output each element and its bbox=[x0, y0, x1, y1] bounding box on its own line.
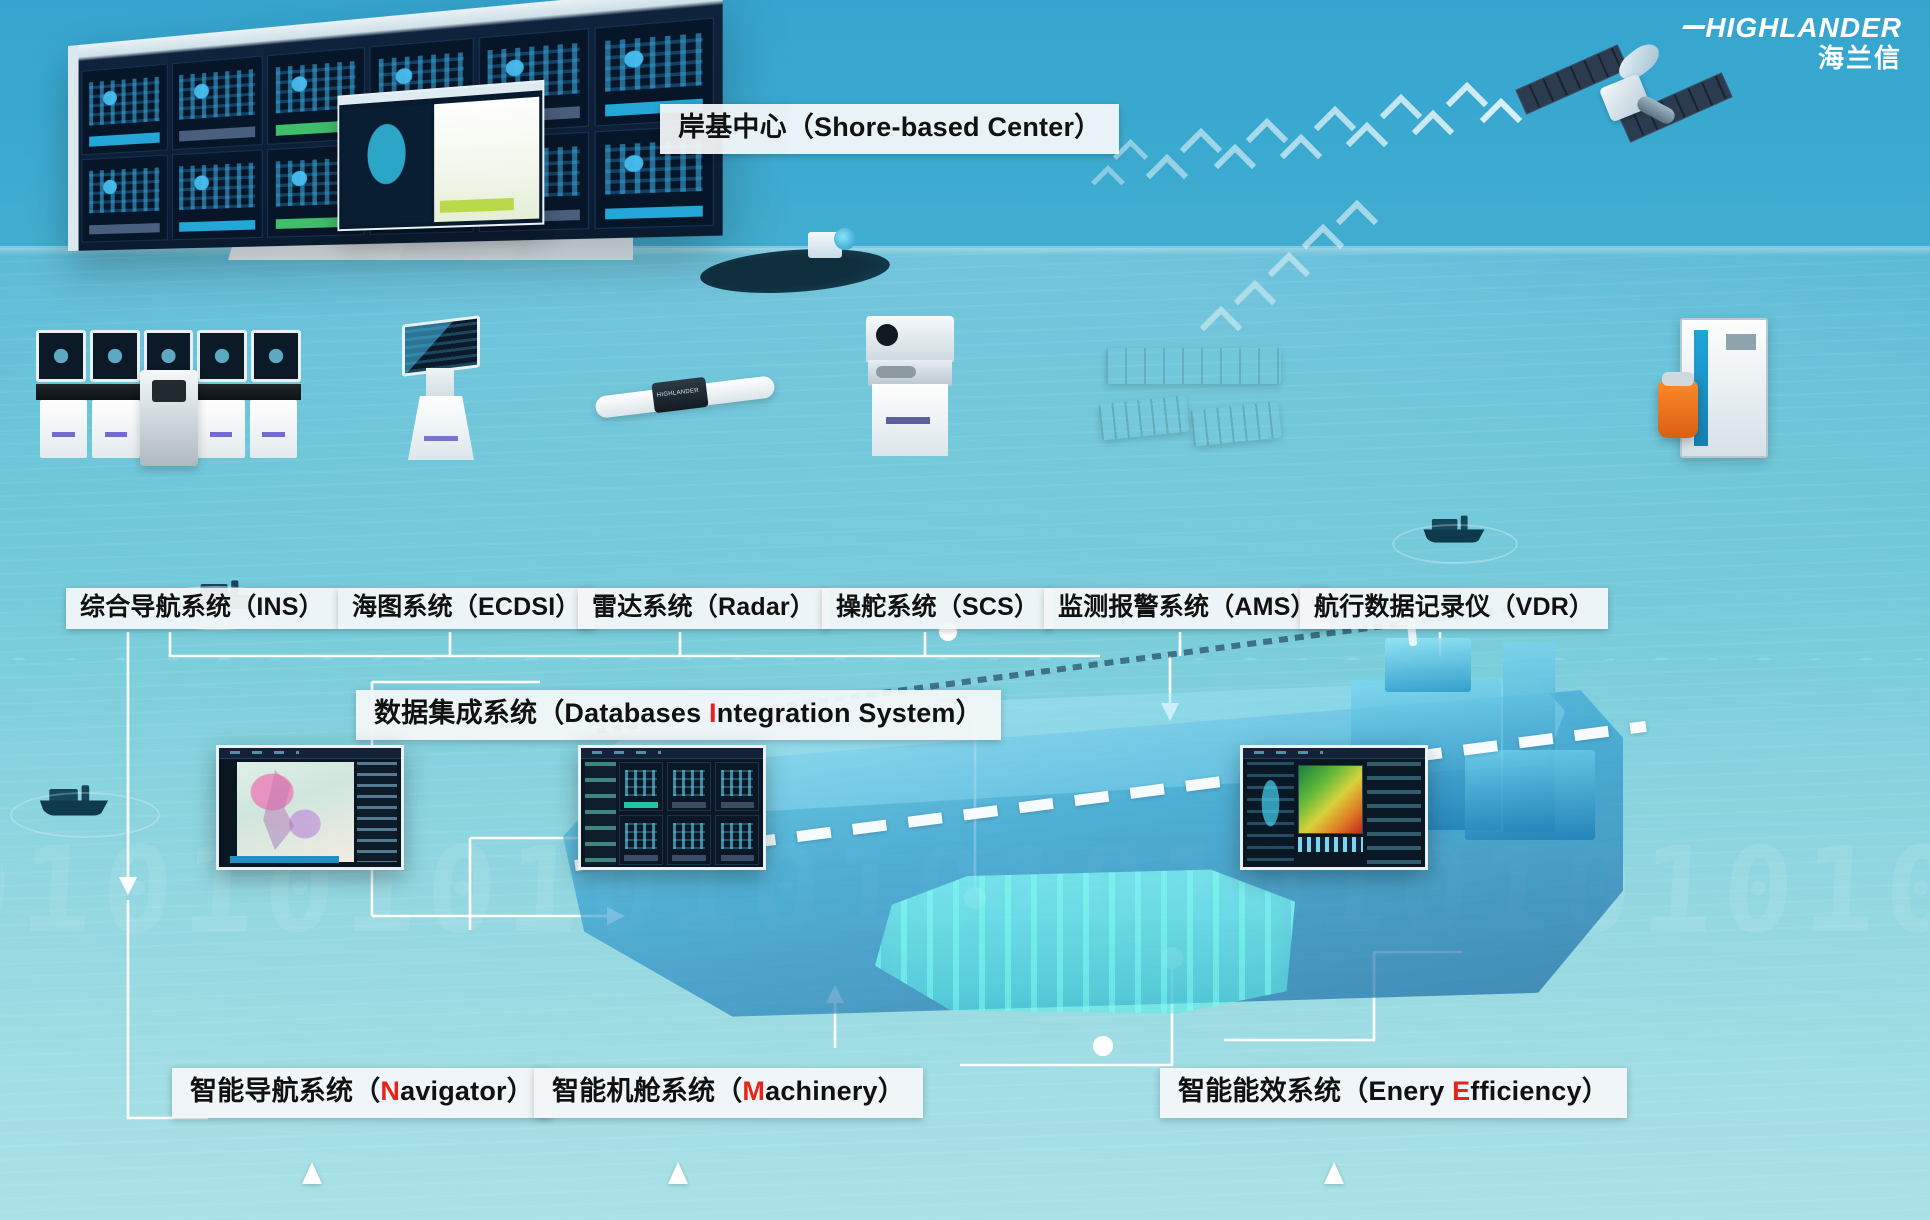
label-equipment-ins: 综合导航系统（INS） bbox=[66, 588, 338, 629]
machinery-suffix: achinery） bbox=[765, 1076, 905, 1106]
dis-prefix: 数据集成系统（Databases bbox=[374, 698, 709, 728]
ripple-ring bbox=[10, 792, 160, 838]
label-equipment-ams: 监测报警系统（AMS） bbox=[1044, 588, 1330, 629]
bottom-marker-triangle bbox=[302, 1162, 322, 1184]
label-smart-machinery: 智能机舱系统（Machinery） bbox=[534, 1068, 923, 1118]
machinery-highlight: M bbox=[742, 1076, 765, 1106]
efficiency-highlight: E bbox=[1452, 1076, 1470, 1106]
label-shore-based-center: 岸基中心（Shore-based Center） bbox=[660, 104, 1119, 154]
voyage-recorder-icon bbox=[1658, 318, 1768, 458]
brand-name-cn: 海兰信 bbox=[1689, 45, 1902, 71]
bottom-marker-triangle bbox=[668, 1162, 688, 1184]
brand-name-en: HIGHLANDER bbox=[1689, 14, 1902, 42]
label-smart-navigator: 智能导航系统（Navigator） bbox=[172, 1068, 552, 1118]
coastal-station-icon bbox=[700, 232, 890, 292]
dis-highlight: I bbox=[709, 698, 717, 728]
label-equipment-radar: 雷达系统（Radar） bbox=[578, 588, 829, 629]
efficiency-prefix: 智能能效系统（Enery bbox=[1178, 1076, 1452, 1106]
navigator-suffix: avigator） bbox=[400, 1076, 534, 1106]
machinery-screen-thumbnail bbox=[578, 745, 766, 870]
navigator-highlight: N bbox=[380, 1076, 400, 1106]
machinery-prefix: 智能机舱系统（ bbox=[552, 1076, 742, 1106]
navigation-console-icon bbox=[36, 330, 301, 460]
dis-suffix: ntegration System） bbox=[717, 698, 983, 728]
chart-kiosk-icon bbox=[392, 320, 488, 460]
ripple-ring bbox=[1392, 524, 1518, 564]
radar-antenna-icon bbox=[595, 362, 775, 432]
label-databases-integration-system: 数据集成系统（Databases Integration System） bbox=[356, 690, 1001, 740]
bottom-marker-triangle bbox=[1324, 1162, 1344, 1184]
label-equipment-vdr: 航行数据记录仪（VDR） bbox=[1300, 588, 1608, 629]
shore-secondary-monitor bbox=[337, 80, 544, 231]
label-equipment-ecdis: 海图系统（ECDSI） bbox=[338, 588, 595, 629]
label-smart-efficiency: 智能能效系统（Enery Efficiency） bbox=[1160, 1068, 1627, 1118]
navigator-prefix: 智能导航系统（ bbox=[190, 1076, 380, 1106]
steering-console-icon bbox=[862, 316, 958, 456]
label-equipment-scs: 操舵系统（SCS） bbox=[822, 588, 1053, 629]
efficiency-screen-thumbnail bbox=[1240, 745, 1428, 870]
alarm-module-icon bbox=[1100, 348, 1290, 458]
navigator-screen-thumbnail bbox=[216, 745, 404, 870]
satellite-icon bbox=[1520, 32, 1710, 142]
infographic-canvas: 01010101010101010101010101010101010101 0… bbox=[0, 0, 1930, 1220]
efficiency-suffix: fficiency） bbox=[1470, 1076, 1609, 1106]
brand-logo: HIGHLANDER 海兰信 bbox=[1689, 14, 1902, 71]
